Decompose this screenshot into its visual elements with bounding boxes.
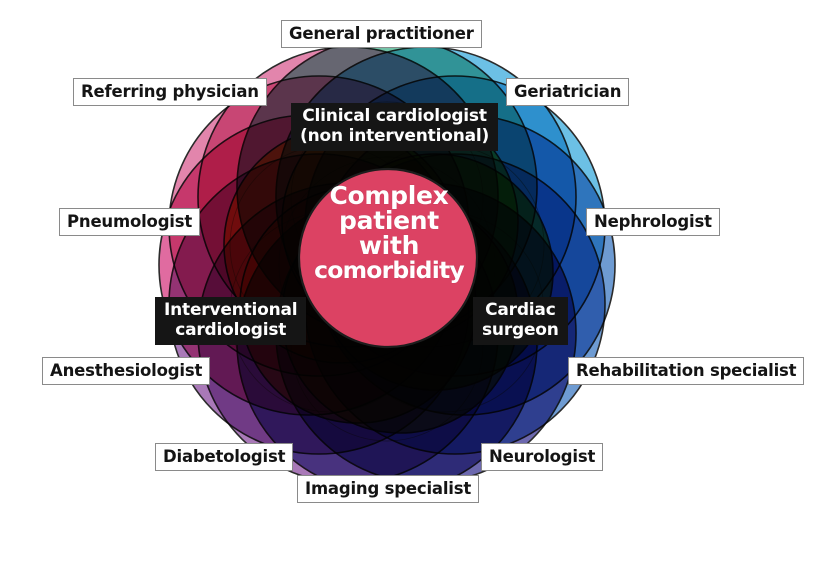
label-anesthesiologist[interactable]: Anesthesiologist xyxy=(42,357,210,385)
clinical-cardiologist-line-1: Clinical cardiologist xyxy=(300,107,489,127)
label-geriatrician[interactable]: Geriatrician xyxy=(506,78,629,106)
diagram-canvas: Complex patient with comorbidity General… xyxy=(0,0,839,582)
cardiac-surgeon-line-2: surgeon xyxy=(482,321,559,341)
center-line-3: with xyxy=(303,233,475,258)
label-general-practitioner[interactable]: General practitioner xyxy=(281,20,482,48)
label-imaging-specialist[interactable]: Imaging specialist xyxy=(297,475,479,503)
label-rehabilitation-specialist[interactable]: Rehabilitation specialist xyxy=(568,357,804,385)
center-line-2: patient xyxy=(303,208,475,233)
interventional-cardiologist-line-2: cardiologist xyxy=(164,321,297,341)
center-line-4: comorbidity xyxy=(303,258,475,283)
center-label: Complex patient with comorbidity xyxy=(303,183,475,283)
label-referring-physician[interactable]: Referring physician xyxy=(73,78,267,106)
label-nephrologist[interactable]: Nephrologist xyxy=(586,208,720,236)
cardiac-surgeon-line-1: Cardiac xyxy=(482,301,559,321)
label-interventional-cardiologist[interactable]: Interventional cardiologist xyxy=(155,297,306,345)
label-cardiac-surgeon[interactable]: Cardiac surgeon xyxy=(473,297,568,345)
label-clinical-cardiologist[interactable]: Clinical cardiologist (non interventiona… xyxy=(291,103,498,151)
label-pneumologist[interactable]: Pneumologist xyxy=(59,208,200,236)
center-line-1: Complex xyxy=(303,183,475,208)
label-neurologist[interactable]: Neurologist xyxy=(481,443,603,471)
clinical-cardiologist-line-2: (non interventional) xyxy=(300,127,489,147)
interventional-cardiologist-line-1: Interventional xyxy=(164,301,297,321)
label-diabetologist[interactable]: Diabetologist xyxy=(155,443,293,471)
